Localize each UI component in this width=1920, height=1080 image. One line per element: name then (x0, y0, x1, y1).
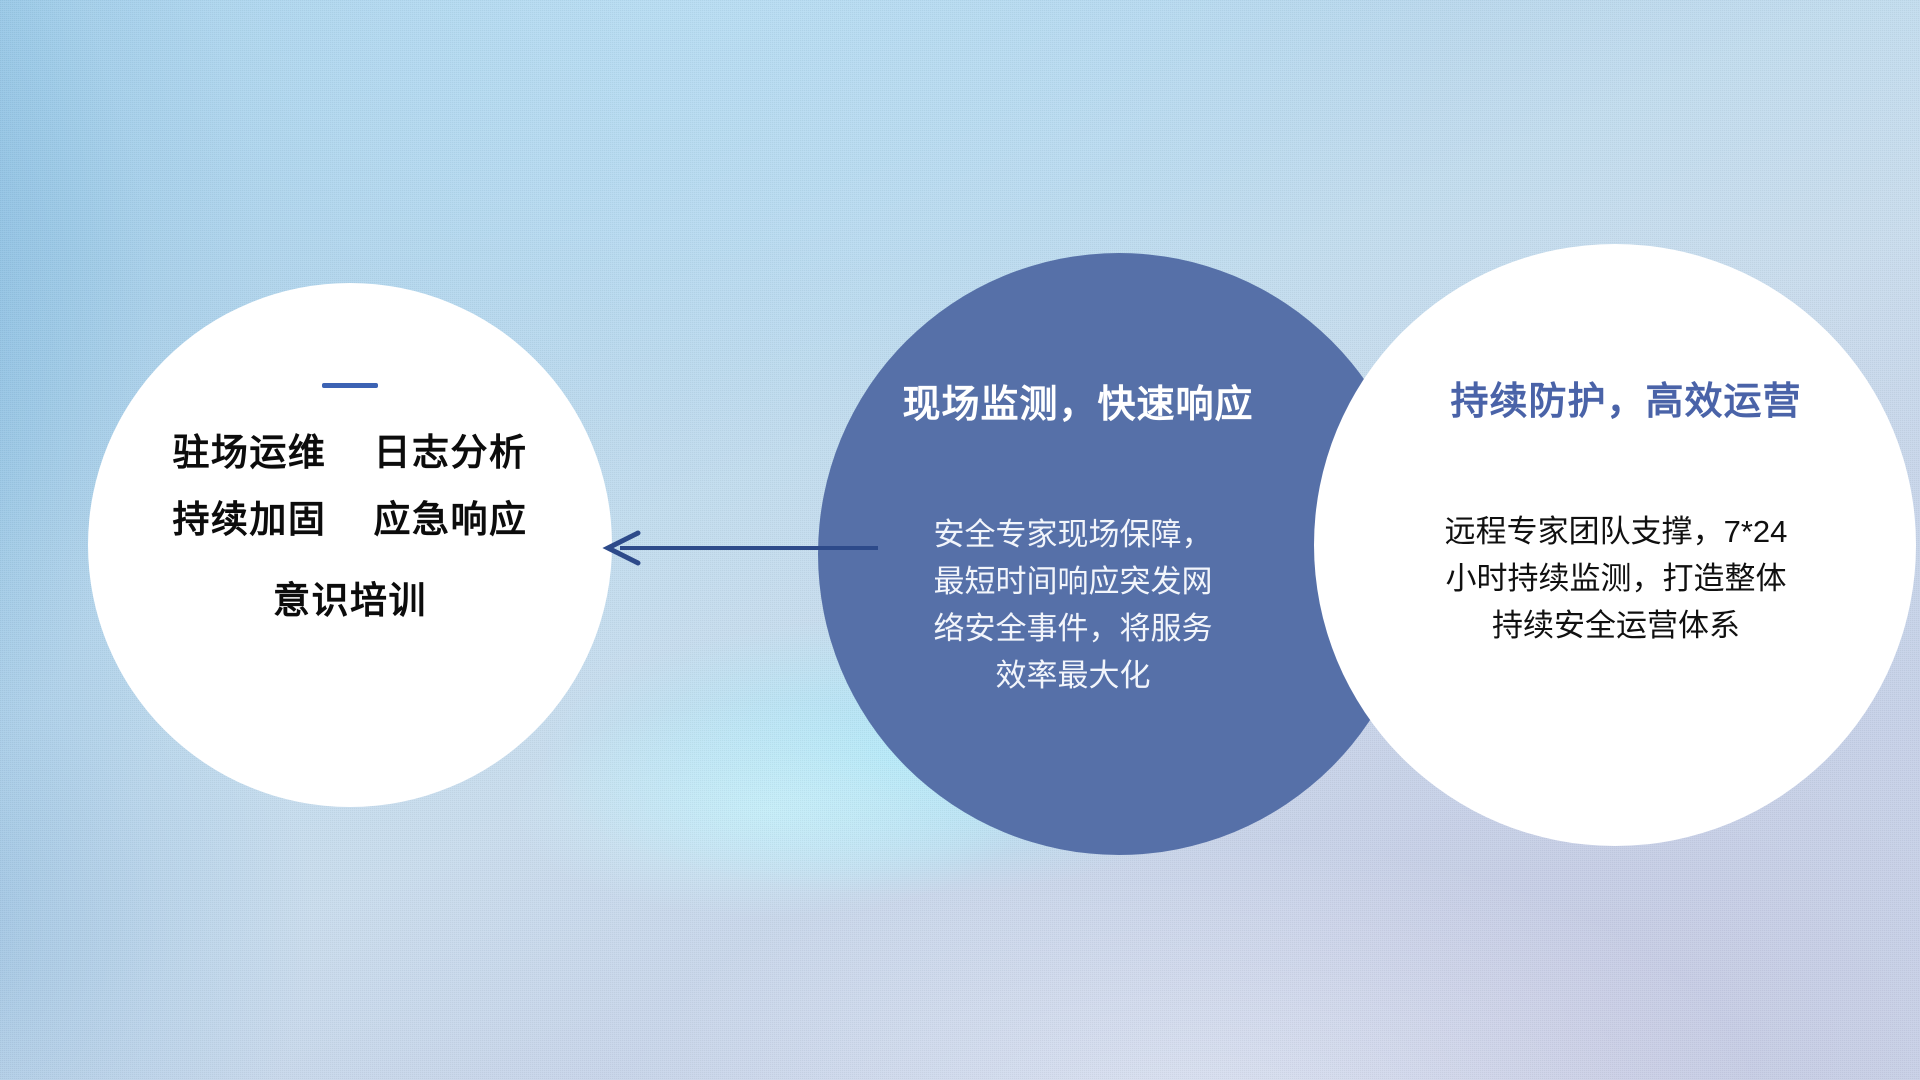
left-card-line-1: 驻场运维 日志分析 (172, 434, 527, 471)
left-card-line-3: 意识培训 (273, 582, 427, 619)
left-card-content: 驻场运维 日志分析 持续加固 应急响应 意识培训 (88, 283, 612, 807)
left-pointing-arrow-icon (596, 512, 886, 584)
slide-canvas: 驻场运维 日志分析 持续加固 应急响应 意识培训 现场监测，快速响应 安全专家现… (0, 0, 1920, 1080)
right-white-circle (1314, 244, 1916, 846)
left-card-line-2: 持续加固 应急响应 (172, 501, 527, 538)
left-card-divider-dash (322, 383, 378, 388)
